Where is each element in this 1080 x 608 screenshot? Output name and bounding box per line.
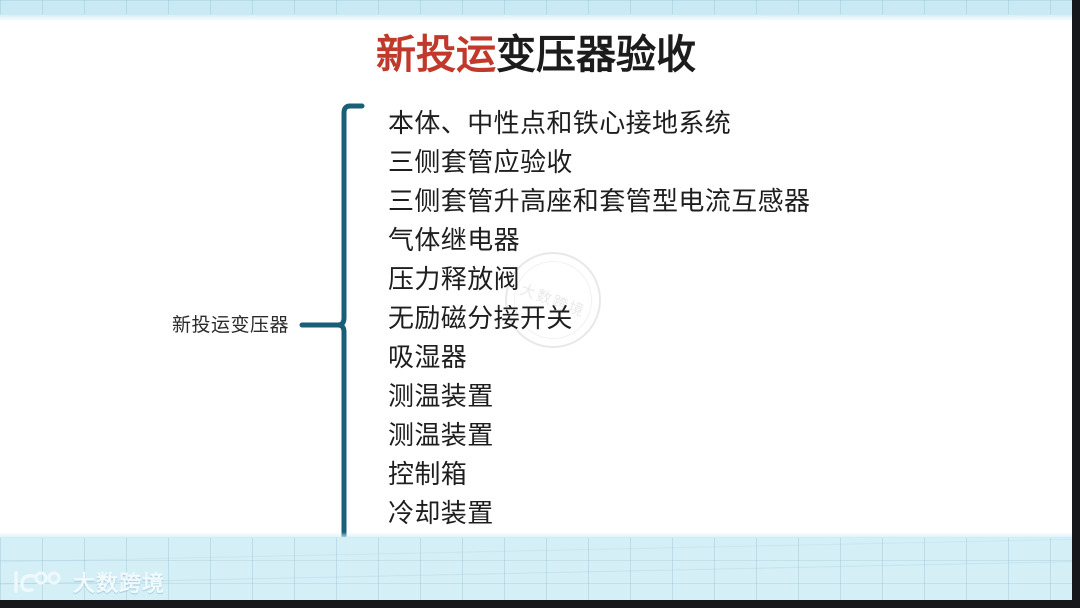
slide-canvas: 新投运变压器验收 大数跨境 新投运变压器 本体、中性点和铁心接地系统 三侧套管应… [0, 0, 1080, 608]
right-edge-strip [1072, 0, 1080, 608]
list-item: 控制箱 [388, 455, 1008, 494]
root-node-label: 新投运变压器 [172, 310, 289, 337]
page-title: 新投运变压器验收 [0, 28, 1072, 82]
page-title-highlight: 新投运 [376, 33, 496, 77]
ic-circles-logo-icon [10, 569, 64, 595]
bottom-edge-strip [0, 600, 1080, 608]
list-item: 测温装置 [388, 416, 1008, 455]
top-decorative-band [0, 0, 1080, 15]
list-item: 吸湿器 [388, 338, 1008, 377]
checklist: 本体、中性点和铁心接地系统 三侧套管应验收 三侧套管升高座和套管型电流互感器 气… [388, 104, 1008, 533]
list-item: 本体、中性点和铁心接地系统 [388, 104, 1008, 143]
bracket-connector-icon [290, 100, 400, 550]
list-item: 气体继电器 [388, 221, 1008, 260]
list-item: 压力释放阀 [388, 260, 1008, 299]
watermark-logo: 大数跨境 [10, 566, 165, 598]
list-item: 三侧套管应验收 [388, 143, 1008, 182]
list-item: 三侧套管升高座和套管型电流互感器 [388, 182, 1008, 221]
list-item: 无励磁分接开关 [388, 299, 1008, 338]
watermark-logo-text: 大数跨境 [73, 566, 165, 598]
list-item: 测温装置 [388, 377, 1008, 416]
list-item: 冷却装置 [388, 494, 1008, 533]
page-title-rest: 变压器验收 [496, 33, 696, 77]
